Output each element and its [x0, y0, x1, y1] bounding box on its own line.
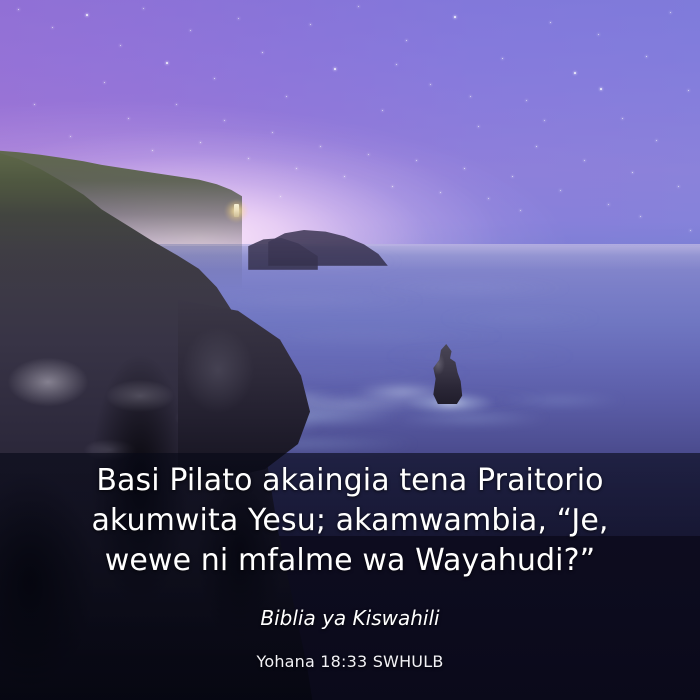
star-icon	[656, 140, 657, 141]
star-icon	[248, 158, 249, 159]
star-icon	[690, 230, 691, 231]
star-icon	[478, 126, 479, 127]
star-icon	[678, 186, 679, 187]
star-icon	[143, 8, 144, 9]
star-icon	[190, 30, 191, 31]
star-icon	[52, 27, 53, 28]
star-icon	[544, 120, 545, 121]
star-icon	[622, 118, 623, 119]
star-icon	[86, 14, 88, 16]
star-icon	[464, 168, 465, 169]
verse-reference: Yohana 18:33 SWHULB	[0, 652, 700, 671]
star-icon	[598, 34, 599, 35]
star-icon	[416, 160, 417, 161]
star-icon	[670, 12, 671, 13]
star-icon	[120, 45, 121, 46]
star-icon	[166, 62, 168, 64]
verse-line: Basi Pilato akaingia tena Praitorio	[0, 461, 700, 501]
star-icon	[214, 78, 215, 79]
star-icon	[262, 52, 263, 53]
star-icon	[640, 216, 641, 217]
star-icon	[520, 210, 521, 211]
star-icon	[286, 96, 287, 97]
star-icon	[574, 72, 576, 74]
star-icon	[600, 88, 602, 90]
star-icon	[502, 58, 503, 59]
star-icon	[280, 196, 281, 197]
star-icon	[368, 154, 369, 155]
star-icon	[382, 110, 383, 111]
star-icon	[296, 168, 297, 169]
star-icon	[406, 40, 407, 41]
star-icon	[688, 90, 689, 91]
star-icon	[334, 68, 336, 70]
star-icon	[512, 176, 513, 177]
star-icon	[358, 6, 359, 7]
star-icon	[128, 118, 129, 119]
star-icon	[550, 22, 551, 23]
verse-line: wewe ni mfalme wa Wayahudi?”	[0, 541, 700, 581]
star-icon	[272, 132, 273, 133]
star-icon	[560, 190, 561, 191]
verse-line: akumwita Yesu; akamwambia, “Je,	[0, 501, 700, 541]
star-icon	[396, 64, 397, 65]
star-icon	[320, 146, 321, 147]
star-icon	[176, 104, 177, 105]
lighthouse-tower	[234, 204, 239, 217]
star-icon	[224, 120, 225, 121]
star-icon	[454, 16, 456, 18]
verse-text: Basi Pilato akaingia tena Praitorioakumw…	[0, 461, 700, 581]
star-icon	[470, 96, 471, 97]
star-icon	[430, 84, 431, 85]
star-icon	[310, 24, 311, 25]
star-icon	[238, 18, 239, 19]
bible-verse-image: Basi Pilato akaingia tena Praitorioakumw…	[0, 0, 700, 700]
translation-name: Biblia ya Kiswahili	[0, 606, 700, 630]
star-icon	[392, 186, 393, 187]
star-icon	[152, 150, 153, 151]
star-icon	[70, 136, 71, 137]
star-icon	[608, 204, 609, 205]
star-icon	[440, 192, 441, 193]
star-icon	[536, 146, 537, 147]
text-layer: Basi Pilato akaingia tena Praitorioakumw…	[0, 453, 700, 700]
star-icon	[632, 172, 633, 173]
star-icon	[344, 176, 345, 177]
star-icon	[526, 100, 527, 101]
star-icon	[34, 104, 35, 105]
star-icon	[104, 82, 105, 83]
star-icon	[488, 198, 489, 199]
star-icon	[646, 56, 647, 57]
lighthouse-icon	[232, 204, 241, 218]
star-icon	[18, 9, 19, 10]
star-icon	[584, 160, 585, 161]
star-icon	[200, 142, 201, 143]
